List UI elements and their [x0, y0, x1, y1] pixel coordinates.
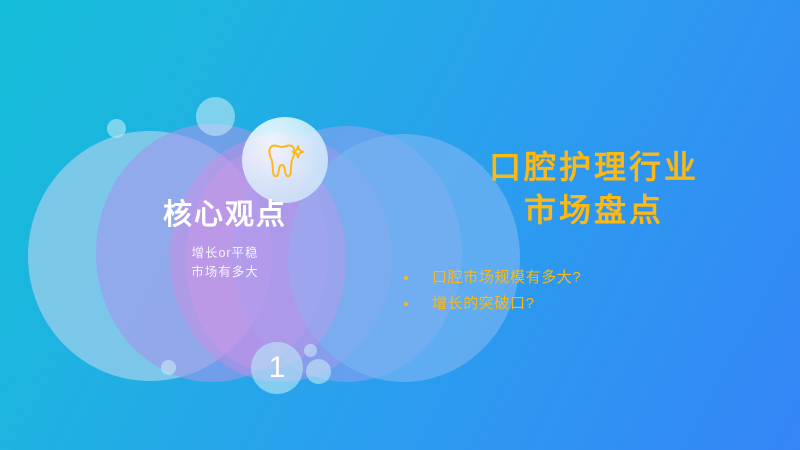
slide-title-line-1: 口腔护理行业 — [398, 146, 790, 189]
bubble-decoration-1 — [107, 119, 126, 138]
bubble-decoration-5 — [306, 359, 331, 384]
left-key-points-block: 核心观点 增长or平稳 市场有多大 — [60, 200, 390, 283]
section-number-label: 1 — [269, 353, 286, 383]
section-number-badge: 1 — [251, 342, 303, 394]
presentation-slide: 1 核心观点 增长or平稳 市场有多大 口腔护理行业 市场盘点 口腔市场规模有多… — [0, 0, 800, 450]
left-subtitle-line-1: 增长or平稳 — [60, 244, 390, 263]
left-heading: 核心观点 — [60, 200, 390, 232]
list-item: 增长的突破口? — [398, 295, 790, 313]
tooth-icon-circle — [242, 117, 328, 203]
slide-title-line-2: 市场盘点 — [398, 189, 790, 232]
bubble-decoration-4 — [304, 344, 317, 357]
left-subtitle-line-2: 市场有多大 — [60, 263, 390, 282]
tooth-icon — [260, 135, 310, 185]
bullet-label: 口腔市场规模有多大? — [432, 269, 581, 287]
bubble-decoration-2 — [196, 97, 235, 136]
bullet-dot-icon — [404, 302, 408, 306]
bullet-label: 增长的突破口? — [432, 295, 535, 313]
bubble-decoration-3 — [161, 360, 176, 375]
question-bullet-list: 口腔市场规模有多大? 增长的突破口? — [398, 269, 790, 313]
right-content-block: 口腔护理行业 市场盘点 口腔市场规模有多大? 增长的突破口? — [398, 146, 790, 321]
list-item: 口腔市场规模有多大? — [398, 269, 790, 287]
bullet-dot-icon — [404, 276, 408, 280]
